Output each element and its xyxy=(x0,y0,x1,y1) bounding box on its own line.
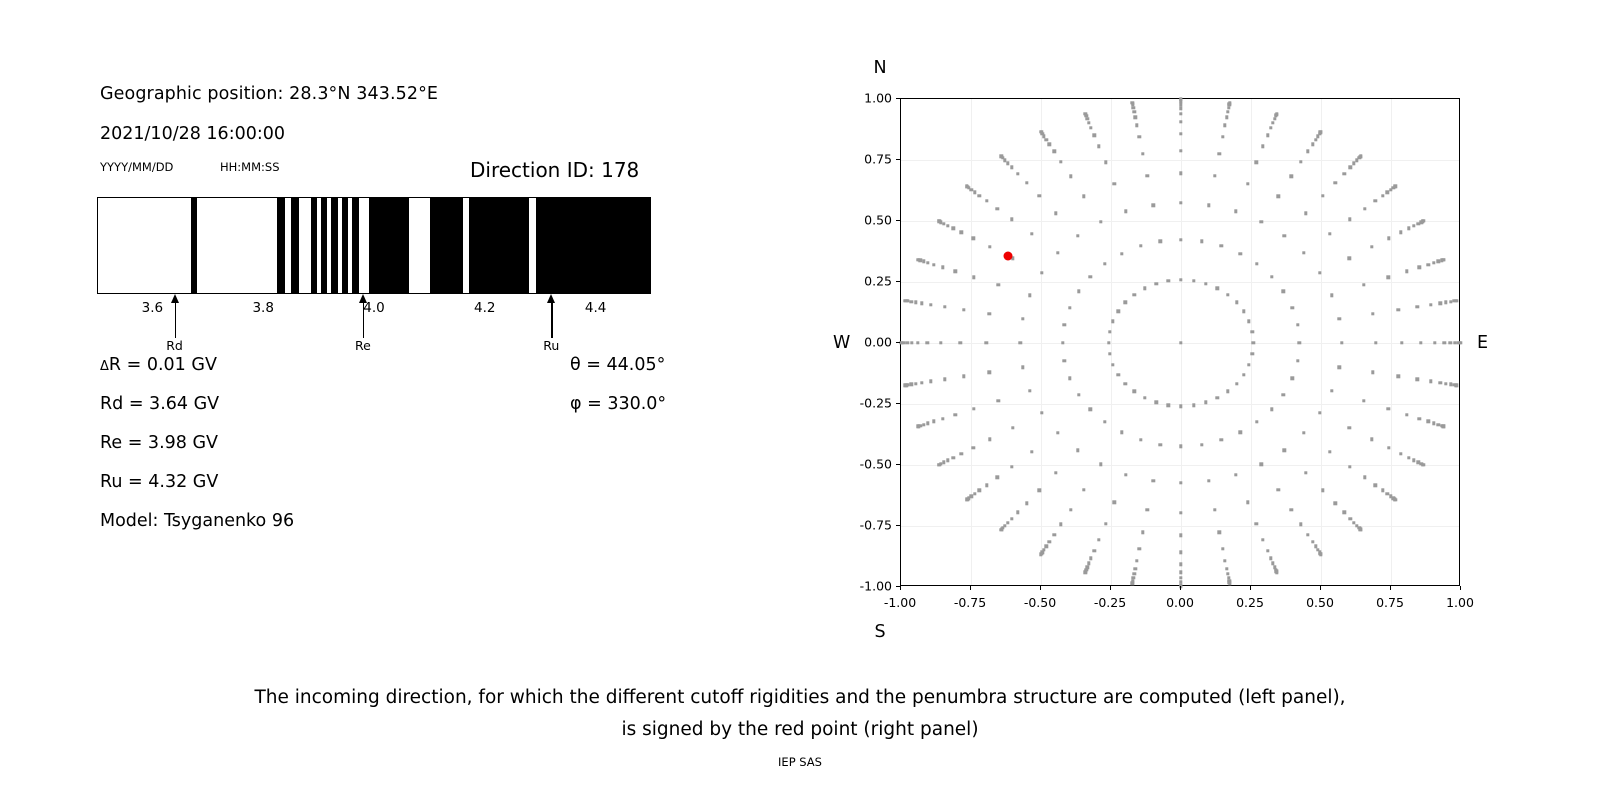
direction-point xyxy=(1151,479,1154,482)
direction-point xyxy=(1030,232,1033,235)
penumbra-tick-label: 3.6 xyxy=(142,300,163,316)
direction-point xyxy=(1442,258,1445,261)
penumbra-band xyxy=(291,198,299,293)
x-axis-tick-label: -0.25 xyxy=(1094,595,1126,610)
ru-value: Ru = 4.32 GV xyxy=(100,472,218,492)
direction-point xyxy=(1342,511,1345,514)
direction-point xyxy=(1228,581,1231,584)
y-axis-tick-label: 0.25 xyxy=(830,274,892,289)
direction-point xyxy=(904,384,907,387)
direction-point xyxy=(1337,317,1340,320)
caption-line-1: The incoming direction, for which the di… xyxy=(0,682,1600,714)
y-axis-tick-mark xyxy=(896,281,900,282)
direction-point xyxy=(1134,115,1137,118)
direction-point xyxy=(932,263,935,266)
y-axis-tick-label: -0.75 xyxy=(830,518,892,533)
direction-point xyxy=(1104,161,1107,164)
direction-point xyxy=(954,270,957,273)
direction-point xyxy=(1089,275,1092,278)
direction-point xyxy=(1179,103,1182,106)
direction-point xyxy=(1418,266,1421,269)
date-format-hint: YYYY/MM/DD xyxy=(100,160,173,174)
direction-point xyxy=(1400,341,1403,344)
penumbra-tick-label: 4.2 xyxy=(474,300,495,316)
direction-point xyxy=(1037,489,1040,492)
direction-point xyxy=(1337,366,1340,369)
direction-point xyxy=(1302,431,1305,434)
direction-point xyxy=(1151,203,1154,206)
direction-point xyxy=(1131,101,1134,104)
direction-point xyxy=(1290,508,1293,511)
direction-point xyxy=(1179,112,1182,115)
direction-point xyxy=(1069,175,1072,178)
penumbra-band xyxy=(430,198,463,293)
direction-point xyxy=(1340,341,1343,344)
parameter-row: Rd = 3.64 GV φ = 330.0° xyxy=(100,394,660,433)
gridline-horizontal xyxy=(901,160,1459,161)
direction-point xyxy=(1359,154,1362,157)
direction-point xyxy=(988,245,991,248)
y-axis-tick-label: -0.25 xyxy=(830,396,892,411)
penumbra-band xyxy=(352,198,359,293)
direction-point xyxy=(1277,194,1280,197)
direction-point xyxy=(1220,438,1223,441)
direction-point xyxy=(937,463,940,466)
direction-point xyxy=(937,219,940,222)
direction-point xyxy=(1133,110,1136,113)
direction-point xyxy=(1006,521,1009,524)
direction-point xyxy=(1207,203,1210,206)
direction-point xyxy=(1290,175,1293,178)
direction-point xyxy=(1108,330,1111,333)
direction-point xyxy=(1290,306,1293,309)
parameter-row: Model: Tsyganenko 96 xyxy=(100,511,660,550)
marker-label: Ru xyxy=(543,338,559,353)
y-axis-tick-mark xyxy=(896,525,900,526)
y-axis-tick-label: 0.75 xyxy=(830,152,892,167)
x-axis-tick-mark xyxy=(1390,586,1391,590)
direction-point xyxy=(1296,359,1299,362)
x-axis-tick-mark xyxy=(900,586,901,590)
gridline-vertical xyxy=(971,99,972,585)
direction-point xyxy=(1113,182,1116,185)
direction-point xyxy=(926,261,929,264)
direction-point xyxy=(1370,245,1373,248)
direction-point xyxy=(960,231,963,234)
direction-point xyxy=(1348,218,1351,221)
direction-point xyxy=(1455,299,1458,302)
direction-point xyxy=(978,489,981,492)
direction-point xyxy=(1251,352,1254,355)
direction-point xyxy=(939,341,942,344)
direction-point xyxy=(929,380,932,383)
direction-point xyxy=(1179,562,1182,565)
direction-point xyxy=(1077,290,1080,293)
y-axis-tick-mark xyxy=(896,342,900,343)
selected-direction-point[interactable] xyxy=(1003,251,1012,260)
direction-point xyxy=(941,417,944,420)
direction-point xyxy=(1314,138,1317,141)
direction-point xyxy=(1330,293,1333,296)
direction-point xyxy=(1218,531,1221,534)
direction-point xyxy=(1228,101,1231,104)
direction-point xyxy=(1246,182,1249,185)
direction-point xyxy=(1159,240,1162,243)
direction-point xyxy=(1397,308,1400,311)
parameter-list: ΔR = 0.01 GV θ = 44.05° Rd = 3.64 GV φ =… xyxy=(100,355,660,550)
direction-point xyxy=(1374,483,1377,486)
direction-point xyxy=(995,476,998,479)
direction-point xyxy=(1394,498,1397,501)
direction-point xyxy=(1131,581,1134,584)
direction-point xyxy=(978,194,981,197)
penumbra-band xyxy=(342,198,348,293)
marker-shaft xyxy=(175,302,176,338)
direction-point xyxy=(1242,310,1245,313)
y-axis-tick-label: -1.00 xyxy=(830,579,892,594)
direction-point xyxy=(1159,443,1162,446)
direction-point xyxy=(1111,363,1114,366)
x-axis-tick-label: -0.50 xyxy=(1024,595,1056,610)
direction-point xyxy=(910,300,913,303)
x-axis-tick-label: 0.50 xyxy=(1306,595,1334,610)
direction-point xyxy=(1444,301,1447,304)
direction-point xyxy=(904,299,907,302)
direction-point xyxy=(1427,263,1430,266)
delta-r-value: ΔR = 0.01 GV xyxy=(100,355,217,375)
direction-point xyxy=(1146,174,1149,177)
direction-point xyxy=(1107,341,1110,344)
direction-point xyxy=(1223,124,1226,127)
direction-point xyxy=(1328,450,1331,453)
direction-point xyxy=(929,303,932,306)
direction-point xyxy=(1016,172,1019,175)
gridline-horizontal xyxy=(901,282,1459,283)
parameter-row: Ru = 4.32 GV xyxy=(100,472,660,511)
y-axis-tick-mark xyxy=(896,98,900,99)
theta-value: θ = 44.05° xyxy=(570,355,665,375)
direction-point xyxy=(1363,476,1366,479)
direction-point xyxy=(922,260,925,263)
direction-point xyxy=(1138,547,1141,550)
direction-point xyxy=(942,461,945,464)
parameter-row: Re = 3.98 GV xyxy=(100,433,660,472)
page-root: Geographic position: 28.3°N 343.52°E 202… xyxy=(0,0,1600,800)
x-axis-tick-label: 0.00 xyxy=(1166,595,1194,610)
direction-point xyxy=(1048,143,1051,146)
direction-point xyxy=(1432,422,1435,425)
direction-point xyxy=(1133,572,1136,575)
direction-point xyxy=(1370,437,1373,440)
direction-point xyxy=(1255,262,1258,265)
direction-point xyxy=(1348,166,1351,169)
direction-point xyxy=(1311,540,1314,543)
direction-point xyxy=(972,407,975,410)
direction-point xyxy=(1419,341,1422,344)
direction-point xyxy=(1039,552,1042,555)
direction-point xyxy=(1059,160,1062,163)
compass-label-east: E xyxy=(1477,333,1488,353)
direction-point xyxy=(910,341,913,344)
direction-point xyxy=(997,399,1000,402)
gridline-vertical xyxy=(1391,99,1392,585)
direction-point xyxy=(1139,438,1142,441)
datetime-label: 2021/10/28 16:00:00 xyxy=(100,124,285,144)
direction-point xyxy=(1238,252,1241,255)
direction-point xyxy=(1099,463,1102,466)
direction-point xyxy=(1108,352,1111,355)
direction-point xyxy=(1040,271,1043,274)
direction-point xyxy=(1068,377,1071,380)
direction-point xyxy=(1040,411,1043,414)
direction-point xyxy=(1381,489,1384,492)
gridline-vertical xyxy=(1321,99,1322,585)
direction-point xyxy=(1179,341,1182,344)
y-axis-tick-label: 1.00 xyxy=(830,91,892,106)
direction-point xyxy=(1124,301,1127,304)
direction-point xyxy=(1359,528,1362,531)
direction-point xyxy=(1302,251,1305,254)
direction-point xyxy=(997,283,1000,286)
direction-point xyxy=(1093,133,1096,136)
direction-point xyxy=(1226,390,1229,393)
direction-point xyxy=(1124,382,1127,385)
penumbra-bar-container xyxy=(97,197,651,294)
direction-point xyxy=(926,341,929,344)
direction-point xyxy=(1270,408,1273,411)
direction-point xyxy=(1238,431,1241,434)
figure-caption: The incoming direction, for which the di… xyxy=(0,682,1600,746)
direction-point xyxy=(1296,323,1299,326)
direction-point xyxy=(972,276,975,279)
direction-point xyxy=(1179,97,1182,100)
direction-point xyxy=(1113,501,1116,504)
direction-point xyxy=(1306,533,1309,536)
direction-point xyxy=(1362,283,1365,286)
direction-point xyxy=(1433,341,1436,344)
direction-point xyxy=(1405,270,1408,273)
direction-point xyxy=(1056,251,1059,254)
direction-point xyxy=(1192,279,1195,282)
direction-grid-panel: -1.00-0.75-0.50-0.250.000.250.500.751.00… xyxy=(800,0,1600,660)
direction-point xyxy=(1283,234,1286,237)
direction-point xyxy=(1179,120,1182,123)
direction-point xyxy=(1371,312,1374,315)
direction-point xyxy=(1260,463,1263,466)
direction-point xyxy=(1200,443,1203,446)
direction-point xyxy=(1141,531,1144,534)
direction-point xyxy=(1234,473,1237,476)
direction-point xyxy=(1328,232,1331,235)
direction-point xyxy=(1076,449,1079,452)
compass-label-north: N xyxy=(873,58,886,78)
direction-point xyxy=(1010,465,1013,468)
penumbra-band xyxy=(191,198,198,293)
direction-point xyxy=(985,483,988,486)
x-axis-tick-mark xyxy=(1320,586,1321,590)
direction-point xyxy=(1030,450,1033,453)
direction-point xyxy=(1459,341,1462,344)
direction-point xyxy=(1139,244,1142,247)
gridline-horizontal xyxy=(901,526,1459,527)
gridline-vertical xyxy=(1041,99,1042,585)
direction-point xyxy=(1204,282,1207,285)
direction-point xyxy=(1416,378,1419,381)
penumbra-band xyxy=(331,198,338,293)
direction-point xyxy=(995,207,998,210)
direction-point xyxy=(1304,211,1307,214)
direction-point xyxy=(1304,471,1307,474)
marker-label: Rd xyxy=(166,338,183,353)
direction-id-label: Direction ID: 178 xyxy=(470,158,639,182)
direction-point xyxy=(1155,282,1158,285)
direction-point xyxy=(1179,238,1182,241)
direction-point xyxy=(1179,534,1182,537)
direction-point xyxy=(1397,375,1400,378)
direction-point xyxy=(1028,293,1031,296)
direction-point xyxy=(1422,219,1425,222)
direction-point xyxy=(1213,508,1216,511)
direction-point xyxy=(962,375,965,378)
direction-point xyxy=(1138,135,1141,138)
direction-point xyxy=(1207,479,1210,482)
direction-point xyxy=(1270,275,1273,278)
direction-point xyxy=(973,191,976,194)
direction-point xyxy=(1019,341,1022,344)
direction-point xyxy=(1167,279,1170,282)
direction-point xyxy=(1342,172,1345,175)
rd-value: Rd = 3.64 GV xyxy=(100,394,219,414)
direction-point xyxy=(1438,381,1441,384)
direction-point xyxy=(1135,124,1138,127)
direction-point xyxy=(1422,463,1425,466)
direction-point xyxy=(1235,301,1238,304)
direction-point xyxy=(1261,538,1264,541)
direction-point xyxy=(1179,132,1182,135)
direction-point xyxy=(1045,138,1048,141)
direction-point xyxy=(1260,220,1263,223)
direction-point xyxy=(1179,576,1182,579)
direction-point xyxy=(1442,341,1445,344)
y-axis-tick-mark xyxy=(896,403,900,404)
direction-point xyxy=(1235,382,1238,385)
direction-point xyxy=(1167,403,1170,406)
x-axis-tick-mark xyxy=(1250,586,1251,590)
direction-point xyxy=(943,378,946,381)
direction-point xyxy=(1407,456,1410,459)
direction-point xyxy=(1251,330,1254,333)
direction-point xyxy=(1234,210,1237,213)
direction-point xyxy=(1399,231,1402,234)
direction-point xyxy=(1010,218,1013,221)
re-value: Re = 3.98 GV xyxy=(100,433,218,453)
direction-point xyxy=(1220,244,1223,247)
direction-point xyxy=(1089,557,1092,560)
direction-point xyxy=(1179,444,1182,447)
direction-point xyxy=(1179,404,1182,407)
direction-point xyxy=(951,227,954,230)
direction-point xyxy=(1216,287,1219,290)
direction-point xyxy=(1321,194,1324,197)
direction-point xyxy=(942,222,945,225)
direction-point xyxy=(1277,488,1280,491)
direction-point xyxy=(1290,377,1293,380)
direction-point xyxy=(1418,417,1421,420)
direction-point xyxy=(1381,194,1384,197)
direction-point xyxy=(1352,162,1355,165)
direction-point xyxy=(1438,301,1441,304)
gridline-horizontal xyxy=(901,221,1459,222)
direction-point xyxy=(1226,293,1229,296)
direction-point xyxy=(1318,411,1321,414)
direction-point xyxy=(922,423,925,426)
direction-point xyxy=(1442,425,1445,428)
penumbra-tick-label: 4.4 xyxy=(585,300,606,316)
direction-point xyxy=(1223,559,1226,562)
direction-point xyxy=(1374,341,1377,344)
geographic-position-label: Geographic position: 28.3°N 343.52°E xyxy=(100,84,438,104)
direction-point xyxy=(1010,166,1013,169)
direction-point xyxy=(971,446,974,449)
direction-point xyxy=(1093,549,1096,552)
direction-point xyxy=(999,528,1002,531)
direction-point xyxy=(1103,262,1106,265)
direction-point xyxy=(985,199,988,202)
direction-point xyxy=(1052,150,1055,153)
direction-point xyxy=(1021,366,1024,369)
direction-point xyxy=(1226,110,1229,113)
direction-point xyxy=(1266,133,1269,136)
direction-point xyxy=(1387,237,1390,240)
penumbra-band xyxy=(311,198,317,293)
direction-point xyxy=(1200,240,1203,243)
direction-point xyxy=(1247,363,1250,366)
direction-point xyxy=(1429,380,1432,383)
direction-point xyxy=(1387,407,1390,410)
direction-point xyxy=(1141,152,1144,155)
penumbra-bar xyxy=(97,197,651,294)
direction-point xyxy=(965,185,968,188)
direction-point xyxy=(988,371,991,374)
direction-point xyxy=(1133,390,1136,393)
direction-point xyxy=(1143,396,1146,399)
direction-point xyxy=(1135,559,1138,562)
direction-point xyxy=(1054,471,1057,474)
direction-point xyxy=(1179,172,1182,175)
direction-point xyxy=(1077,393,1080,396)
direction-point xyxy=(1192,403,1195,406)
direction-point xyxy=(1321,489,1324,492)
direction-point xyxy=(1242,373,1245,376)
direction-point xyxy=(954,413,957,416)
direction-point xyxy=(1052,533,1055,536)
direction-point xyxy=(1429,303,1432,306)
direction-point xyxy=(1252,341,1255,344)
direction-point xyxy=(973,492,976,495)
direction-point xyxy=(1134,567,1137,570)
direction-point xyxy=(1011,426,1014,429)
direction-point xyxy=(1006,162,1009,165)
direction-point xyxy=(1120,252,1123,255)
direction-point xyxy=(1179,511,1182,514)
direction-point xyxy=(1084,570,1087,573)
direction-point xyxy=(1455,384,1458,387)
direction-point xyxy=(1319,552,1322,555)
direction-point xyxy=(1299,522,1302,525)
x-axis-tick-label: 1.00 xyxy=(1446,595,1474,610)
direction-point xyxy=(1255,161,1258,164)
direction-point xyxy=(1048,540,1051,543)
